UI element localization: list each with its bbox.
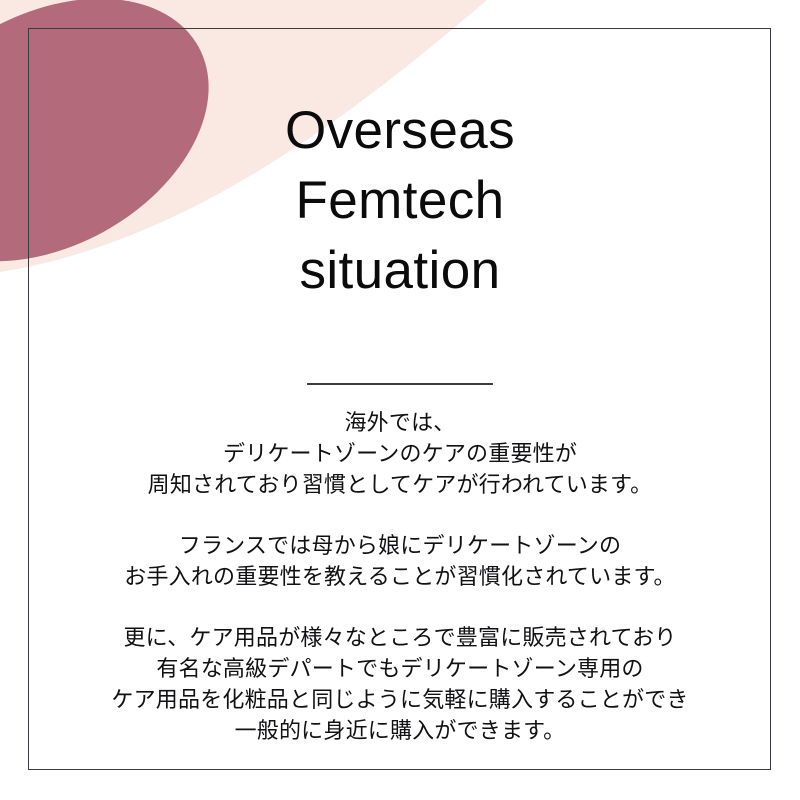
title-line-2: Femtech — [285, 166, 515, 236]
page-title: Overseas Femtech situation — [285, 96, 515, 306]
body-text: 海外では、 デリケートゾーンのケアの重要性が 周知されており習慣としてケアが行わ… — [111, 407, 688, 746]
paragraph-1-line-3: 周知されており習慣としてケアが行われています。 — [111, 469, 688, 500]
paragraph-2-line-1: フランスでは母から娘にデリケートゾーンの — [111, 530, 688, 561]
paragraph-2-line-2: お手入れの重要性を教えることが習慣化されています。 — [111, 561, 688, 592]
paragraph-3: 更に、ケア用品が様々なところで豊富に販売されており 有名な高級デパートでもデリケ… — [111, 622, 688, 746]
paragraph-3-line-2: 有名な高級デパートでもデリケートゾーン専用の — [111, 653, 688, 684]
paragraph-3-line-1: 更に、ケア用品が様々なところで豊富に販売されており — [111, 622, 688, 653]
poster-canvas: Overseas Femtech situation 海外では、 デリケートゾー… — [0, 0, 800, 800]
paragraph-1: 海外では、 デリケートゾーンのケアの重要性が 周知されており習慣としてケアが行わ… — [111, 407, 688, 500]
paragraph-3-line-4: 一般的に身近に購入ができます。 — [111, 715, 688, 746]
poster-content: Overseas Femtech situation 海外では、 デリケートゾー… — [0, 0, 800, 800]
title-line-1: Overseas — [285, 96, 515, 166]
paragraph-3-line-3: ケア用品を化粧品と同じように気軽に購入することができ — [111, 684, 688, 715]
paragraph-2: フランスでは母から娘にデリケートゾーンの お手入れの重要性を教えることが習慣化さ… — [111, 530, 688, 592]
title-line-3: situation — [285, 236, 515, 306]
paragraph-1-line-1: 海外では、 — [111, 407, 688, 438]
title-divider-rule — [307, 383, 493, 385]
paragraph-1-line-2: デリケートゾーンのケアの重要性が — [111, 438, 688, 469]
